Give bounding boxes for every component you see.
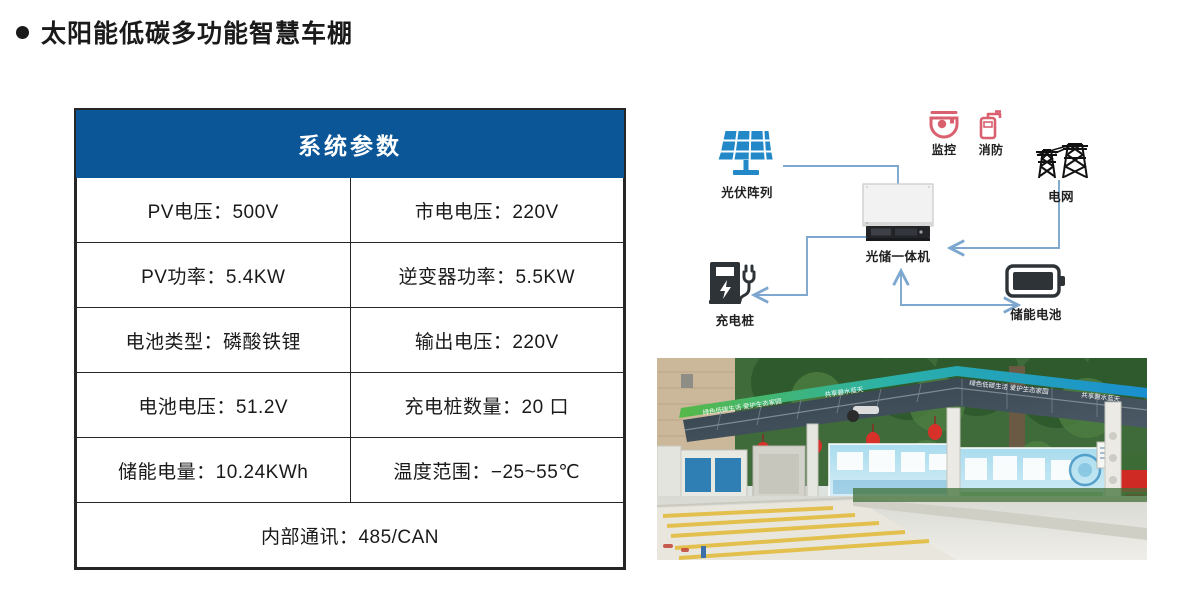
diagram-label-power-grid: 电网 — [1048, 186, 1074, 205]
system-parameters-table: 系统参数 PV电压：500V 市电电压：220V PV功率：5.4KW 逆变器功… — [74, 108, 626, 570]
table-header-row: 系统参数 — [77, 111, 624, 178]
cctv-camera-icon — [927, 108, 961, 140]
diagram-label-pv-array: 光伏阵列 — [721, 182, 773, 201]
diagram-label-storage-battery: 储能电池 — [1010, 304, 1062, 323]
diagram-label-fire-safety: 消防 — [979, 141, 1004, 158]
inverter-cabinet-icon — [859, 182, 937, 244]
system-flow-diagram: 光伏阵列 监控 消防 — [655, 100, 1190, 345]
page-title: 太阳能低碳多功能智慧车棚 — [41, 14, 353, 50]
table-cell: 电池类型：磷酸铁锂 — [77, 308, 351, 373]
diagram-node-charging-pile: 充电桩 — [707, 258, 763, 329]
table-row: 电池电压：51.2V 充电桩数量：20 口 — [77, 373, 624, 438]
table-header-title: 系统参数 — [77, 111, 624, 178]
fire-extinguisher-icon — [975, 108, 1007, 140]
table-row: 电池类型：磷酸铁锂 输出电压：220V — [77, 308, 624, 373]
diagram-label-charging-pile: 充电桩 — [716, 310, 755, 329]
power-tower-icon — [1030, 138, 1092, 184]
diagram-node-fire-safety: 消防 — [975, 108, 1007, 158]
carport-photo-image: 远 离 邪 绿色低碳生活 爱护生态家园 共享碧水蓝天 绿色低碳生活 — [657, 358, 1147, 560]
diagram-node-inverter: 光储一体机 — [859, 182, 937, 265]
table-cell: 电池电压：51.2V — [77, 373, 351, 438]
table-cell: 输出电压：220V — [350, 308, 624, 373]
ev-charging-pile-icon — [707, 258, 763, 308]
table-cell: 市电电压：220V — [350, 178, 624, 243]
table-row: PV电压：500V 市电电压：220V — [77, 178, 624, 243]
table-cell: 逆变器功率：5.5KW — [350, 243, 624, 308]
diagram-label-monitoring: 监控 — [932, 141, 957, 158]
diagram-node-power-grid: 电网 — [1030, 138, 1092, 205]
diagram-node-monitoring: 监控 — [927, 108, 961, 158]
table-cell: PV功率：5.4KW — [77, 243, 351, 308]
table-row: 内部通讯：485/CAN — [77, 503, 624, 568]
table-row: PV功率：5.4KW 逆变器功率：5.5KW — [77, 243, 624, 308]
diagram-node-storage-battery: 储能电池 — [1005, 262, 1067, 323]
diagram-label-inverter: 光储一体机 — [866, 246, 931, 265]
table-cell: 储能电量：10.24KWh — [77, 438, 351, 503]
battery-storage-icon — [1005, 262, 1067, 302]
table-cell: 充电桩数量：20 口 — [350, 373, 624, 438]
diagram-node-pv-array: 光伏阵列 — [710, 128, 784, 201]
solar-panel-icon — [710, 128, 784, 180]
carport-photo: 远 离 邪 绿色低碳生活 爱护生态家园 共享碧水蓝天 绿色低碳生活 — [657, 358, 1147, 560]
table-row: 储能电量：10.24KWh 温度范围：−25~55℃ — [77, 438, 624, 503]
table-cell: PV电压：500V — [77, 178, 351, 243]
table-cell: 温度范围：−25~55℃ — [350, 438, 624, 503]
table-cell-fullwidth: 内部通讯：485/CAN — [77, 503, 624, 568]
slide-title-row: 太阳能低碳多功能智慧车棚 — [16, 14, 353, 50]
bullet-dot-icon — [16, 26, 29, 39]
